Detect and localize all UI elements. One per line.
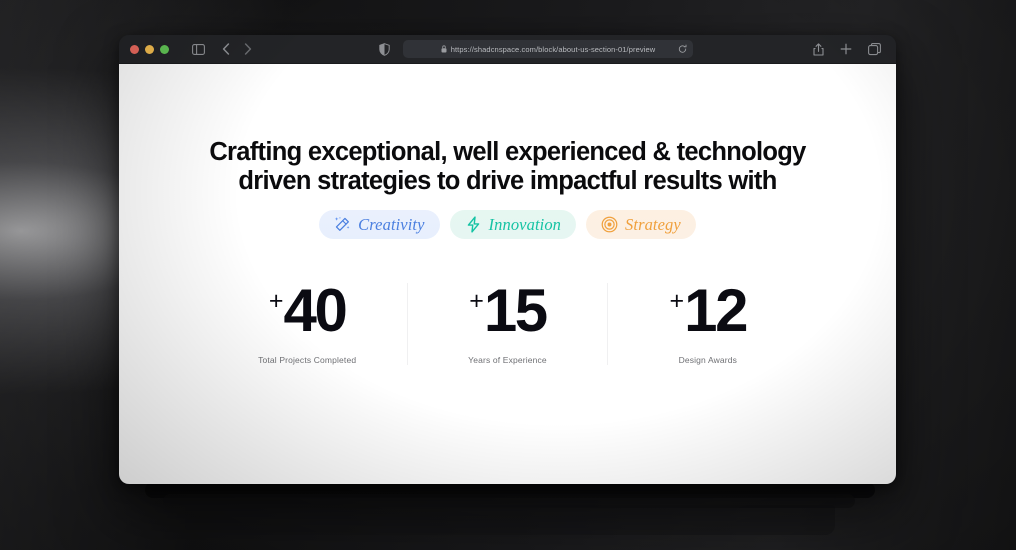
chevron-left-icon[interactable]	[215, 38, 237, 60]
browser-toolbar: https://shadcnspace.com/block/about-us-s…	[119, 35, 896, 64]
share-icon[interactable]	[807, 38, 829, 60]
zap-icon	[465, 216, 482, 233]
zoom-window-button[interactable]	[160, 45, 169, 54]
pill-strategy-label: Strategy	[625, 215, 681, 235]
stat-item: + 40 Total Projects Completed	[208, 283, 407, 365]
pill-creativity-label: Creativity	[358, 215, 424, 235]
stat-prefix: +	[670, 289, 684, 314]
feature-pills: Creativity Innovation	[319, 210, 696, 239]
stat-item: + 12 Design Awards	[607, 283, 807, 365]
pill-innovation-label: Innovation	[489, 215, 562, 235]
desktop-background: https://shadcnspace.com/block/about-us-s…	[0, 0, 1016, 550]
stat-number: 40	[283, 283, 345, 338]
browser-window: https://shadcnspace.com/block/about-us-s…	[119, 35, 896, 484]
stat-value: + 40	[269, 283, 346, 338]
stat-label: Years of Experience	[468, 355, 547, 365]
reload-icon[interactable]	[678, 45, 687, 54]
shield-icon[interactable]	[373, 38, 395, 60]
toolbar-right-actions	[807, 38, 887, 60]
lock-icon	[441, 45, 447, 53]
target-icon	[601, 216, 618, 233]
pill-innovation[interactable]: Innovation	[450, 210, 577, 239]
sidebar-icon[interactable]	[187, 38, 209, 60]
page-headline: Crafting exceptional, well experienced &…	[188, 138, 828, 196]
plus-icon[interactable]	[835, 38, 857, 60]
url-text: https://shadcnspace.com/block/about-us-s…	[451, 45, 656, 54]
stat-value: + 15	[469, 283, 546, 338]
stat-number: 15	[484, 283, 546, 338]
stat-prefix: +	[269, 289, 283, 314]
traffic-lights	[130, 45, 169, 54]
stat-label: Total Projects Completed	[258, 355, 356, 365]
stat-prefix: +	[469, 289, 483, 314]
magic-wand-icon	[334, 216, 351, 233]
close-window-button[interactable]	[130, 45, 139, 54]
stat-label: Design Awards	[679, 355, 738, 365]
chevron-right-icon[interactable]	[237, 38, 259, 60]
pill-strategy[interactable]: Strategy	[586, 210, 696, 239]
tabs-icon[interactable]	[863, 38, 885, 60]
minimize-window-button[interactable]	[145, 45, 154, 54]
pill-creativity[interactable]: Creativity	[319, 210, 439, 239]
stat-number: 12	[684, 283, 746, 338]
window-stack-shadow-3	[185, 505, 835, 535]
stats-row: + 40 Total Projects Completed + 15 Years…	[208, 283, 808, 365]
stat-item: + 15 Years of Experience	[407, 283, 607, 365]
page-content: Crafting exceptional, well experienced &…	[119, 64, 896, 484]
url-bar[interactable]: https://shadcnspace.com/block/about-us-s…	[403, 40, 693, 58]
stat-value: + 12	[670, 283, 747, 338]
